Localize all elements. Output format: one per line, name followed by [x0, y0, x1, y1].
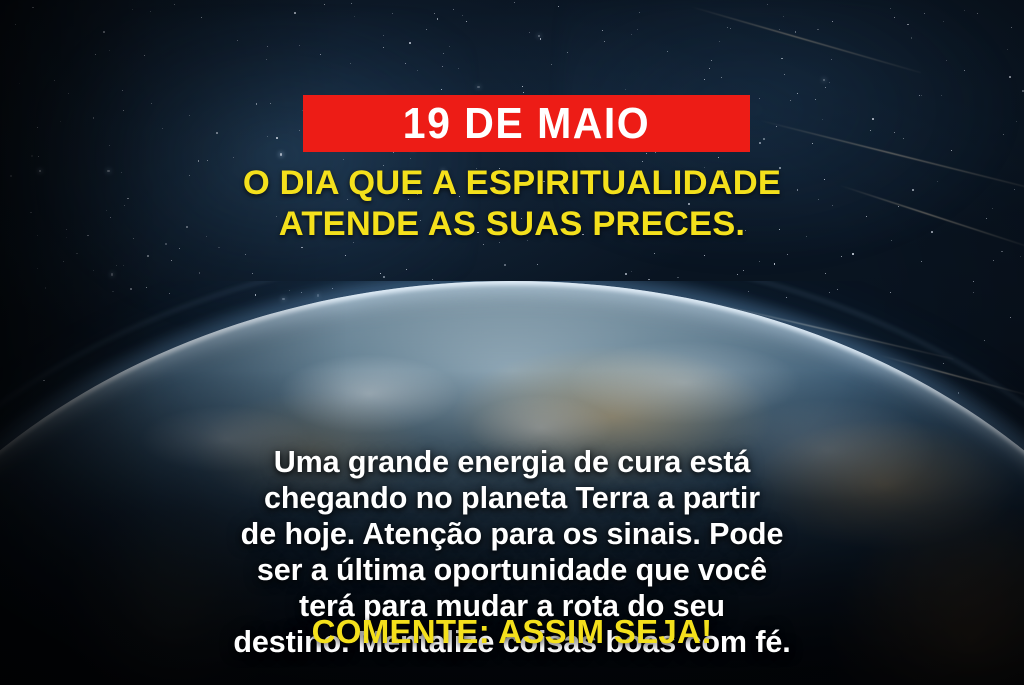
- headline-line-2: ATENDE AS SUAS PRECES.: [0, 204, 1024, 245]
- date-banner: 19 DE MAIO: [303, 95, 750, 152]
- headline-line-1: O DIA QUE A ESPIRITUALIDADE: [0, 163, 1024, 204]
- body-line-1: Uma grande energia de cura está: [0, 444, 1024, 480]
- call-to-action: COMENTE: ASSIM SEJA!: [0, 612, 1024, 652]
- body-line-3: de hoje. Atenção para os sinais. Pode: [0, 516, 1024, 552]
- headline: O DIA QUE A ESPIRITUALIDADE ATENDE AS SU…: [0, 163, 1024, 245]
- poster-image: 19 DE MAIO O DIA QUE A ESPIRITUALIDADE A…: [0, 0, 1024, 685]
- body-line-4: ser a última oportunidade que você: [0, 552, 1024, 588]
- body-line-2: chegando no planeta Terra a partir: [0, 480, 1024, 516]
- date-banner-label: 19 DE MAIO: [403, 102, 650, 145]
- poster-content: 19 DE MAIO O DIA QUE A ESPIRITUALIDADE A…: [0, 0, 1024, 685]
